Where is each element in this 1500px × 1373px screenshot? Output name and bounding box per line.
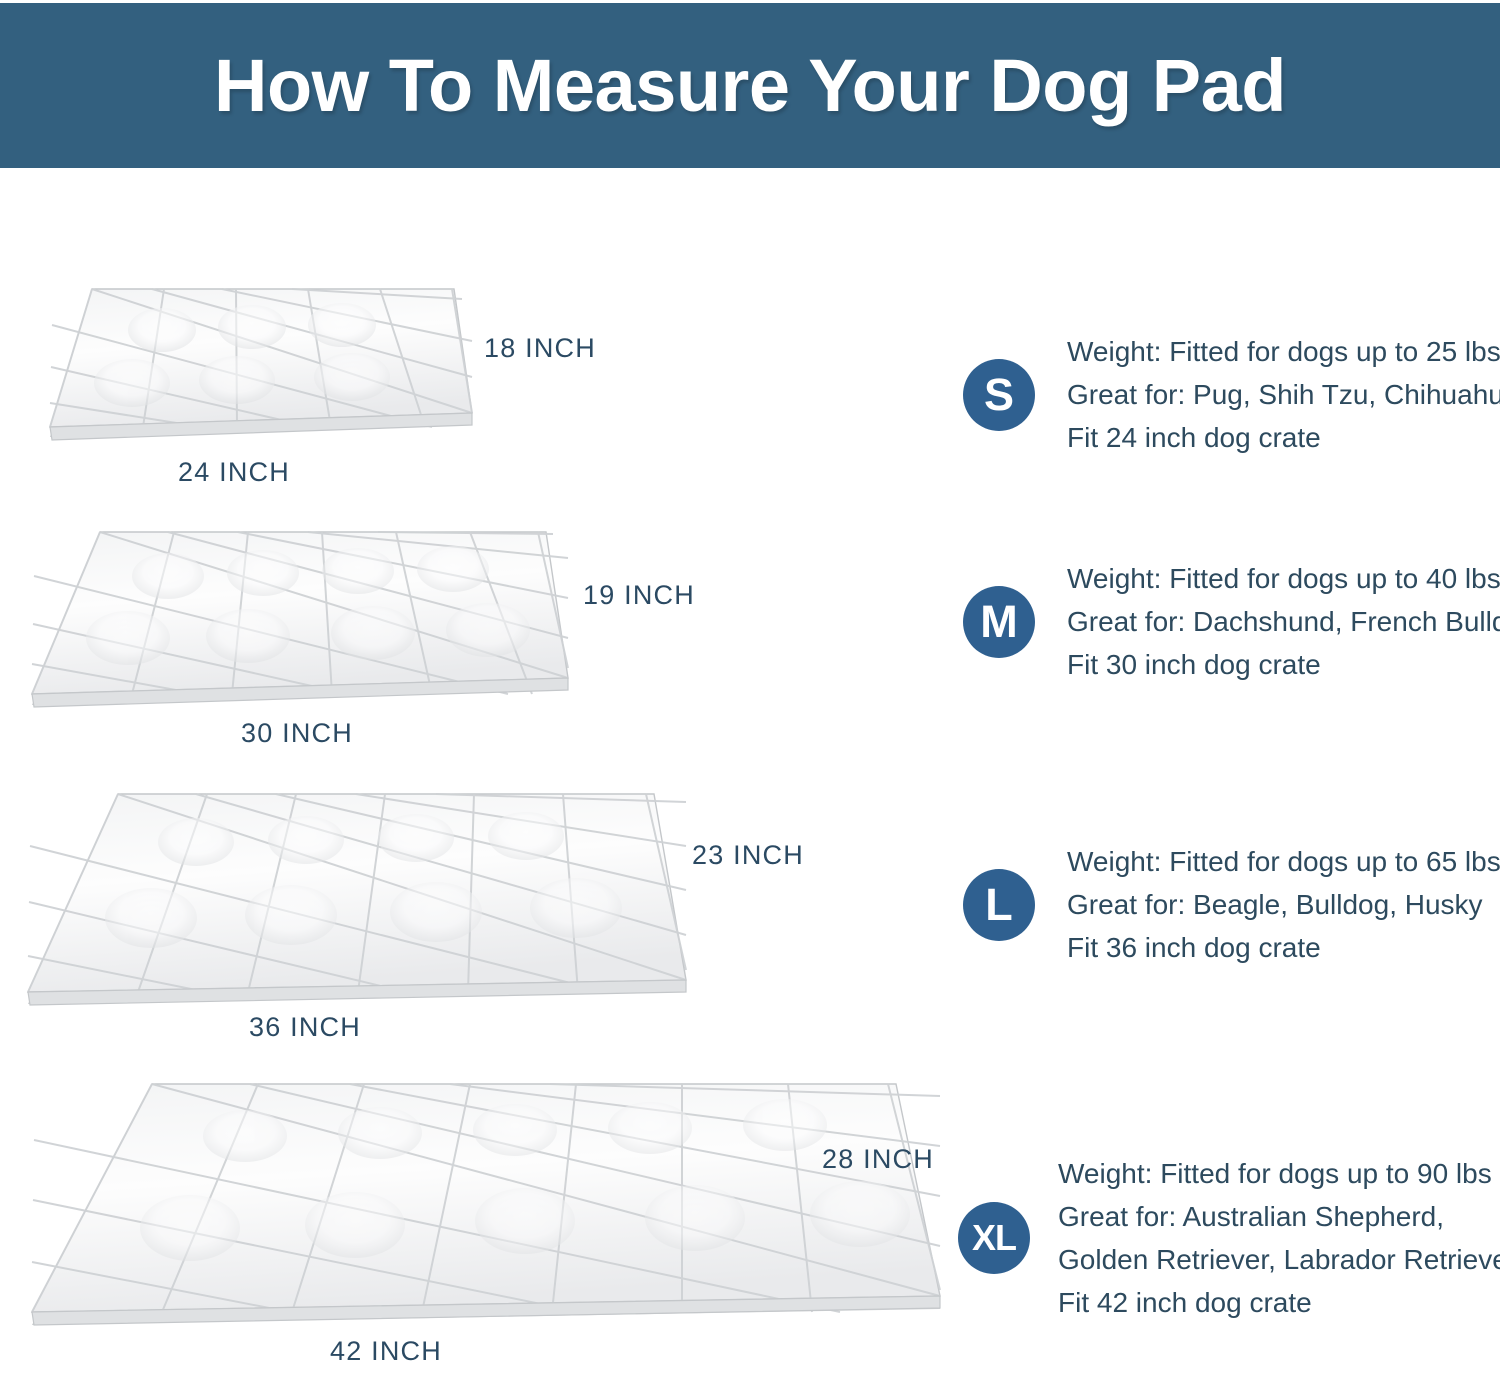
pad-svg-xl (10, 1078, 950, 1328)
pad-illustration-s: 18 INCH 24 INCH (22, 285, 472, 450)
size-crate-s: Fit 24 inch dog crate (1067, 416, 1500, 459)
width-label-s: 24 INCH (178, 457, 290, 488)
size-details-l: Weight: Fitted for dogs up to 65 lbs Gre… (1067, 840, 1500, 969)
size-breeds-s: Great for: Pug, Shih Tzu, Chihuahua (1067, 373, 1500, 416)
width-label-xl: 42 INCH (330, 1336, 442, 1367)
depth-label-l: 23 INCH (692, 840, 804, 871)
size-info-xl: XL Weight: Fitted for dogs up to 90 lbs … (958, 1152, 1500, 1324)
size-crate-m: Fit 30 inch dog crate (1067, 643, 1500, 686)
size-crate-l: Fit 36 inch dog crate (1067, 926, 1500, 969)
size-weight-m: Weight: Fitted for dogs up to 40 lbs (1067, 557, 1500, 600)
pad-illustration-m: 19 INCH 30 INCH (8, 528, 568, 713)
size-breeds-xl-1: Great for: Australian Shepherd, (1058, 1195, 1500, 1238)
depth-label-s: 18 INCH (484, 333, 596, 364)
size-weight-xl: Weight: Fitted for dogs up to 90 lbs (1058, 1152, 1500, 1195)
size-breeds-l: Great for: Beagle, Bulldog, Husky (1067, 883, 1500, 926)
pad-svg-m (8, 528, 568, 713)
size-info-m: M Weight: Fitted for dogs up to 40 lbs G… (963, 557, 1500, 686)
pad-illustration-l: 23 INCH 36 INCH (6, 790, 686, 1005)
size-crate-xl: Fit 42 inch dog crate (1058, 1281, 1500, 1324)
page-title: How To Measure Your Dog Pad (214, 49, 1286, 123)
pad-svg-s (22, 285, 472, 450)
header-banner: How To Measure Your Dog Pad (0, 3, 1500, 168)
size-badge-xl: XL (958, 1202, 1030, 1274)
size-details-xl: Weight: Fitted for dogs up to 90 lbs Gre… (1058, 1152, 1500, 1324)
depth-label-m: 19 INCH (583, 580, 695, 611)
size-badge-m: M (963, 586, 1035, 658)
size-badge-s: S (963, 359, 1035, 431)
pad-svg-l (6, 790, 686, 1005)
size-breeds-xl-2: Golden Retriever, Labrador Retriever (1058, 1238, 1500, 1281)
size-details-m: Weight: Fitted for dogs up to 40 lbs Gre… (1067, 557, 1500, 686)
size-breeds-m: Great for: Dachshund, French Bulldog (1067, 600, 1500, 643)
size-details-s: Weight: Fitted for dogs up to 25 lbs Gre… (1067, 330, 1500, 459)
size-weight-s: Weight: Fitted for dogs up to 25 lbs (1067, 330, 1500, 373)
width-label-m: 30 INCH (241, 718, 353, 749)
size-badge-l: L (963, 869, 1035, 941)
width-label-l: 36 INCH (249, 1012, 361, 1043)
depth-label-xl: 28 INCH (822, 1144, 934, 1175)
size-info-l: L Weight: Fitted for dogs up to 65 lbs G… (963, 840, 1500, 969)
size-weight-l: Weight: Fitted for dogs up to 65 lbs (1067, 840, 1500, 883)
size-info-s: S Weight: Fitted for dogs up to 25 lbs G… (963, 330, 1500, 459)
pad-illustration-xl: 28 INCH 42 INCH (10, 1078, 950, 1328)
